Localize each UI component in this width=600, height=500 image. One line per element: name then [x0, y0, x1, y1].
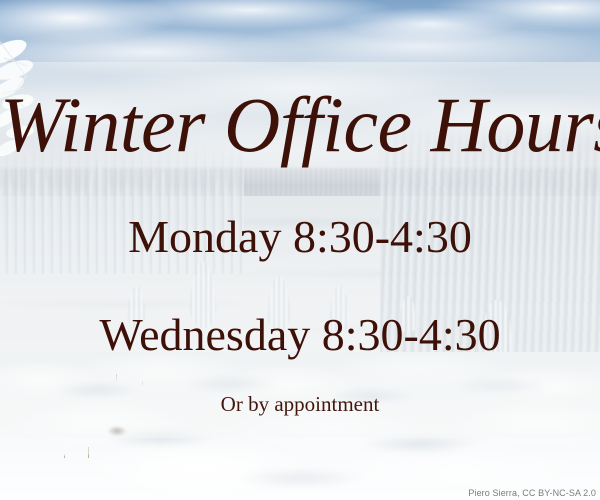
winter-office-hours-poster: Winter Office Hours Monday 8:30-4:30 Wed… [0, 0, 600, 500]
appointment-note: Or by appointment [0, 394, 600, 415]
office-hours-line-monday: Monday 8:30-4:30 [0, 214, 600, 260]
photo-credit: Piero Sierra, CC BY-NC-SA 2.0 [468, 488, 596, 499]
text-layer: Winter Office Hours Monday 8:30-4:30 Wed… [0, 0, 600, 500]
office-hours-line-wednesday: Wednesday 8:30-4:30 [0, 312, 600, 358]
page-title: Winter Office Hours [0, 86, 600, 164]
